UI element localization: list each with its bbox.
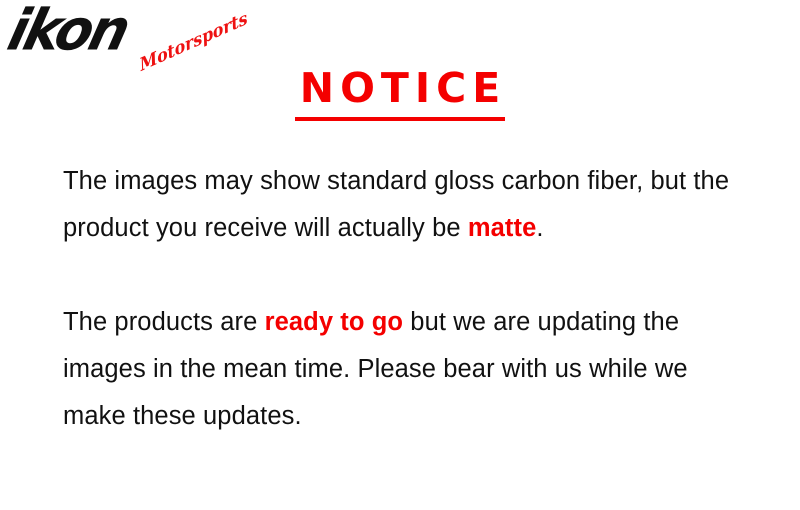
paragraph-one-highlight: matte: [468, 214, 537, 242]
paragraph-two-highlight: ready to go: [265, 308, 404, 336]
paragraph-two: The products are ready to go but we are …: [63, 299, 753, 440]
paragraph-one-text-after: .: [536, 214, 543, 242]
page-title: NOTICE: [292, 66, 509, 110]
brand-wordmark: ikon: [2, 0, 134, 62]
paragraph-two-text-before: The products are: [63, 308, 265, 336]
notice-page: ikon Motorsports NOTICE The images may s…: [0, 0, 800, 510]
notice-heading-block: NOTICE: [0, 66, 800, 121]
paragraph-one-text-before: The images may show standard gloss carbo…: [63, 167, 729, 242]
title-underline-rule: [295, 117, 505, 121]
paragraph-one: The images may show standard gloss carbo…: [63, 158, 753, 252]
notice-body: The images may show standard gloss carbo…: [63, 158, 753, 440]
